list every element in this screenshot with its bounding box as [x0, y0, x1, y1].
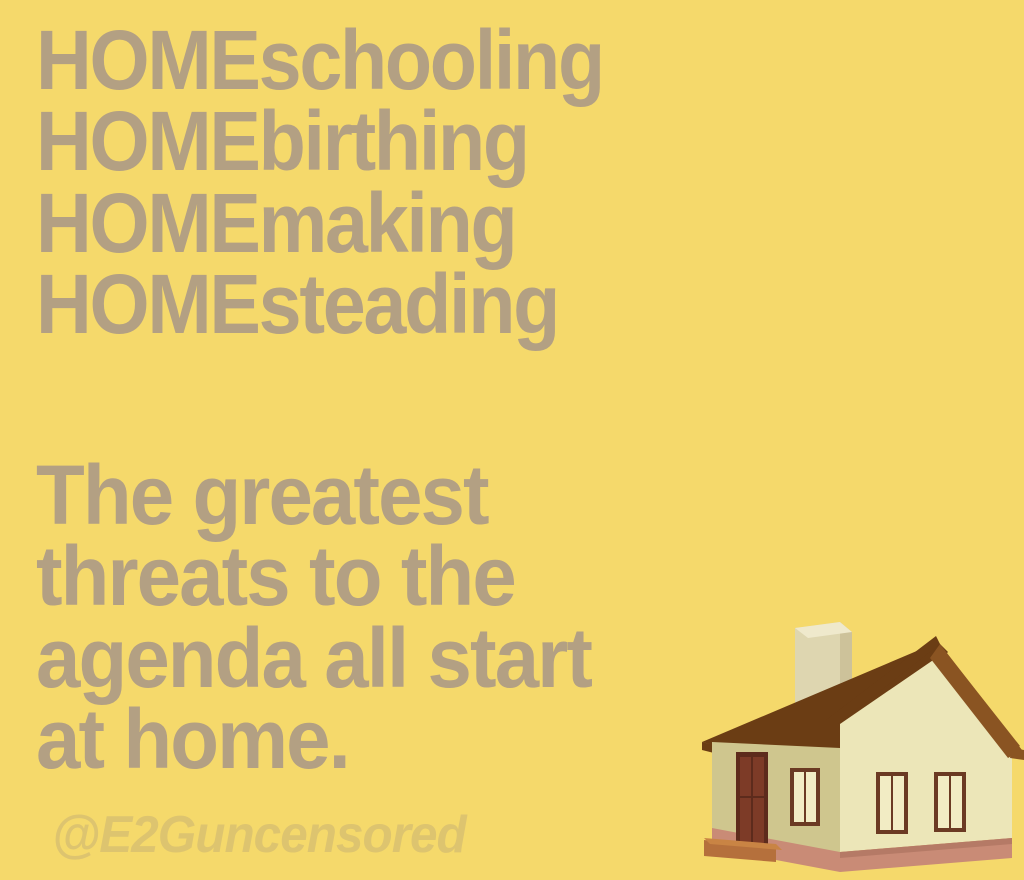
headline-line-4: HOMEsteading [36, 264, 735, 345]
headline-suffix: steading [259, 257, 558, 351]
window-right-face-2 [934, 772, 966, 832]
window-front-face [790, 768, 820, 826]
headline-suffix: making [259, 176, 516, 270]
statement-block: The greatest threats to the agenda all s… [36, 455, 776, 781]
statement-line-2: threats to the [36, 536, 739, 617]
headline-line-3: HOMEmaking [36, 183, 735, 264]
headline-line-2: HOMEbirthing [36, 101, 735, 182]
statement-line-4: at home. [36, 699, 739, 780]
wall-right-face [840, 748, 1012, 852]
statement-line-3: agenda all start [36, 618, 739, 699]
attribution-handle: @E2Guncensored [52, 805, 466, 865]
window-right-face-1 [876, 772, 908, 834]
front-door [736, 752, 768, 848]
headline-suffix: birthing [259, 94, 528, 188]
house-illustration [690, 600, 1024, 880]
headline-prefix: HOME [36, 13, 259, 107]
headline-suffix: schooling [259, 13, 603, 107]
headline-prefix: HOME [36, 257, 259, 351]
headline-line-1: HOMEschooling [36, 20, 735, 101]
headline-prefix: HOME [36, 176, 259, 270]
headline-block: HOMEschooling HOMEbirthing HOMEmaking HO… [36, 20, 796, 346]
poster-canvas: HOMEschooling HOMEbirthing HOMEmaking HO… [0, 0, 1024, 880]
statement-line-1: The greatest [36, 455, 739, 536]
headline-prefix: HOME [36, 94, 259, 188]
